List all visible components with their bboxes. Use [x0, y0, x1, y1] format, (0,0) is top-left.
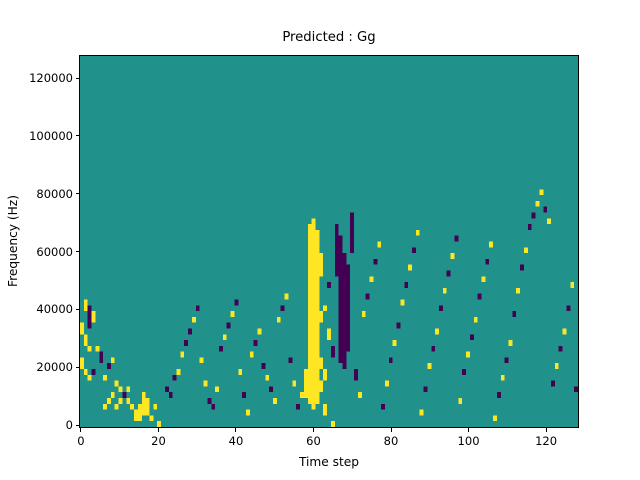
x-tick-mark [468, 428, 469, 432]
x-tick-mark [391, 428, 392, 432]
y-tick-mark [76, 367, 80, 368]
x-tick-label: 100 [458, 434, 480, 448]
x-tick-label: 80 [384, 434, 399, 448]
x-tick-mark [546, 428, 547, 432]
x-tick-mark [80, 428, 81, 432]
heatmap-image [80, 56, 578, 427]
x-tick-label: 60 [306, 434, 321, 448]
x-tick-label: 40 [229, 434, 244, 448]
y-tick-label: 60000 [17, 245, 73, 259]
y-tick-mark [76, 135, 80, 136]
y-tick-mark [76, 425, 80, 426]
y-tick-label: 40000 [17, 302, 73, 316]
y-axis-label: Frequency (Hz) [6, 195, 20, 287]
x-tick-mark [158, 428, 159, 432]
x-tick-mark [313, 428, 314, 432]
x-tick-label: 0 [77, 434, 84, 448]
y-tick-label: 20000 [17, 360, 73, 374]
y-tick-label: 0 [17, 418, 73, 432]
y-tick-label: 120000 [17, 71, 73, 85]
y-tick-mark [76, 309, 80, 310]
y-tick-mark [76, 78, 80, 79]
heatmap-axes [79, 55, 579, 428]
y-tick-mark [76, 193, 80, 194]
y-tick-mark [76, 251, 80, 252]
page-title: Predicted : Gg [79, 30, 579, 46]
x-tick-label: 20 [151, 434, 166, 448]
x-tick-mark [235, 428, 236, 432]
x-axis-label: Time step [79, 455, 579, 469]
matplotlib-figure: Predicted : Gg 0204060801001200200004000… [0, 0, 640, 480]
y-tick-label: 100000 [17, 129, 73, 143]
y-tick-label: 80000 [17, 187, 73, 201]
x-tick-label: 120 [535, 434, 557, 448]
